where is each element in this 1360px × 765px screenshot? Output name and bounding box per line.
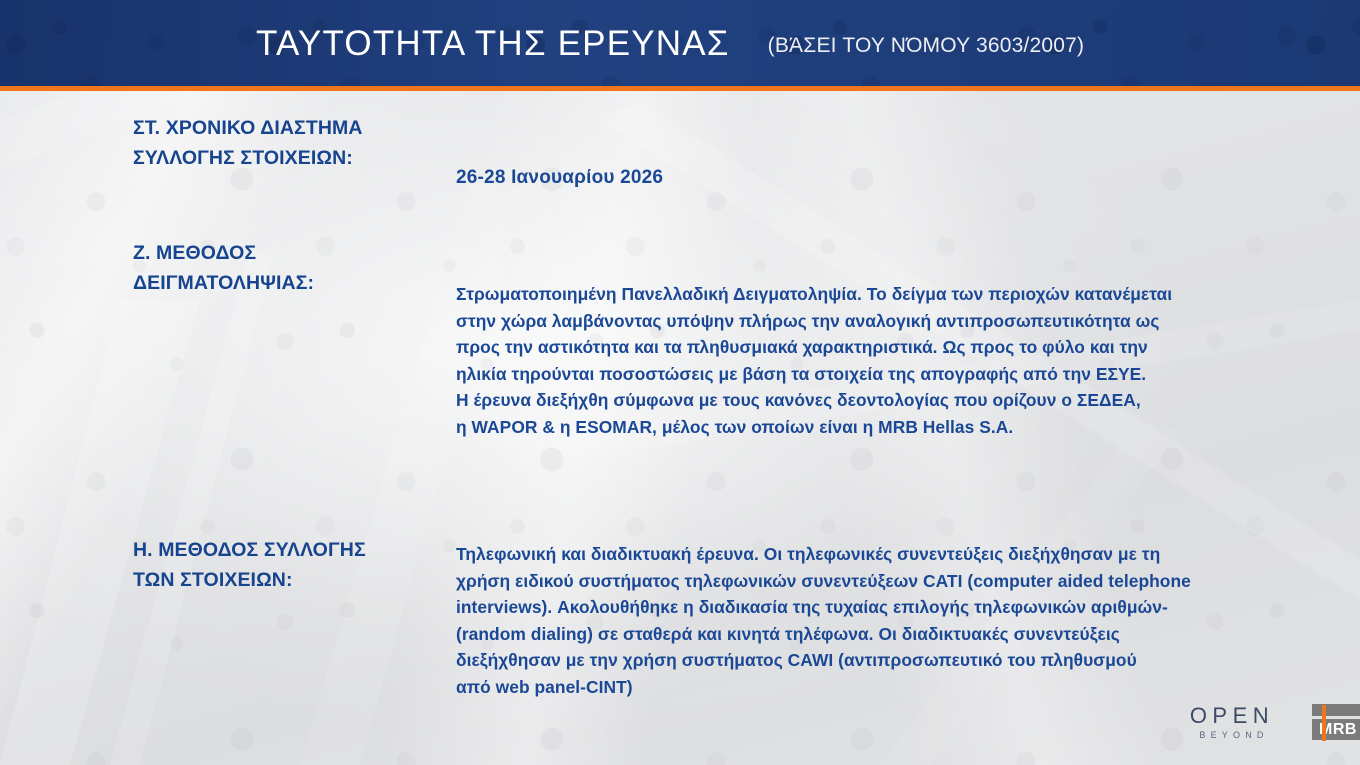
open-beyond-logo: OPEN BEYOND: [1170, 704, 1294, 742]
section-h-label-line2: ΤΩΝ ΣΤΟΙΧΕΙΩΝ:: [133, 565, 366, 595]
mrb-logo: MRB: [1312, 704, 1360, 740]
section-h-body-line: (random dialing) σε σταθερά και κινητά τ…: [456, 621, 1346, 648]
section-z-body-line: η WAPOR & η ESOMAR, μέλος των οποίων είν…: [456, 414, 1346, 441]
section-z-body-line: Στρωματοποιημένη Πανελλαδική Δειγματοληψ…: [456, 281, 1346, 308]
section-st-label-line1: ΣΤ. ΧΡΟΝΙΚΟ ΔΙΑΣΤΗΜΑ: [133, 113, 363, 143]
section-h-body-line: διεξήχθησαν με την χρήση συστήματος CAWI…: [456, 647, 1346, 674]
section-h-body-line: Τηλεφωνική και διαδικτυακή έρευνα. Οι τη…: [456, 541, 1346, 568]
footer-orange-bar: [1322, 705, 1326, 741]
section-z-body: Στρωματοποιημένη Πανελλαδική Δειγματοληψ…: [456, 281, 1346, 440]
section-z-body-line: προς την αστικότητα και τα πληθυσμιακά χ…: [456, 334, 1346, 361]
section-h-body-line: χρήση ειδικού συστήματος τηλεφωνικών συν…: [456, 568, 1346, 595]
slide-root: ΤΑΥΤΟΤΗΤΑ ΤΗΣ ΕΡΕΥΝΑΣ (ΒΆΣΕΙ ΤΟΥ ΝΌΜΟΥ 3…: [0, 0, 1360, 765]
header-content: ΤΑΥΤΟΤΗΤΑ ΤΗΣ ΕΡΕΥΝΑΣ (ΒΆΣΕΙ ΤΟΥ ΝΌΜΟΥ 3…: [0, 0, 1360, 86]
section-z-label-line1: Ζ. ΜΕΘΟΔΟΣ: [133, 238, 314, 268]
section-st-value: 26-28 Ιανουαρίου 2026: [456, 167, 663, 189]
section-st-label-line2: ΣΥΛΛΟΓΗΣ ΣΤΟΙΧΕΙΩΝ:: [133, 143, 363, 173]
section-h-body-line: interviews). Ακολουθήθηκε η διαδικασία τ…: [456, 594, 1346, 621]
slide-content: ΣΤ. ΧΡΟΝΙΚΟ ΔΙΑΣΤΗΜΑ ΣΥΛΛΟΓΗΣ ΣΤΟΙΧΕΙΩΝ:…: [0, 91, 1360, 765]
mrb-logo-bar: [1312, 704, 1360, 716]
page-subtitle: (ΒΆΣΕΙ ΤΟΥ ΝΌΜΟΥ 3603/2007): [768, 34, 1085, 58]
section-z-body-line: ηλικία τηρούνται ποσοστώσεις με βάση τα …: [456, 361, 1346, 388]
section-z-body-line: Η έρευνα διεξήχθη σύμφωνα με τους κανόνε…: [456, 387, 1346, 414]
mrb-logo-text: MRB: [1312, 719, 1360, 740]
section-st-label: ΣΤ. ΧΡΟΝΙΚΟ ΔΙΑΣΤΗΜΑ ΣΥΛΛΟΓΗΣ ΣΤΟΙΧΕΙΩΝ:: [133, 113, 363, 173]
section-h-body: Τηλεφωνική και διαδικτυακή έρευνα. Οι τη…: [456, 541, 1346, 700]
open-logo-wordmark: OPEN: [1170, 704, 1294, 728]
section-h-label: Η. ΜΕΘΟΔΟΣ ΣΥΛΛΟΓΗΣ ΤΩΝ ΣΤΟΙΧΕΙΩΝ:: [133, 535, 366, 595]
section-z-label: Ζ. ΜΕΘΟΔΟΣ ΔΕΙΓΜΑΤΟΛΗΨΙΑΣ:: [133, 238, 314, 298]
footer-logos: OPEN BEYOND MRB: [1140, 696, 1350, 756]
section-h-label-line1: Η. ΜΕΘΟΔΟΣ ΣΥΛΛΟΓΗΣ: [133, 535, 366, 565]
page-title: ΤΑΥΤΟΤΗΤΑ ΤΗΣ ΕΡΕΥΝΑΣ: [256, 26, 730, 61]
section-z-label-line2: ΔΕΙΓΜΑΤΟΛΗΨΙΑΣ:: [133, 268, 314, 298]
section-z-body-line: στην χώρα λαμβάνοντας υπόψην πλήρως την …: [456, 308, 1346, 335]
open-logo-tagline: BEYOND: [1170, 728, 1294, 742]
